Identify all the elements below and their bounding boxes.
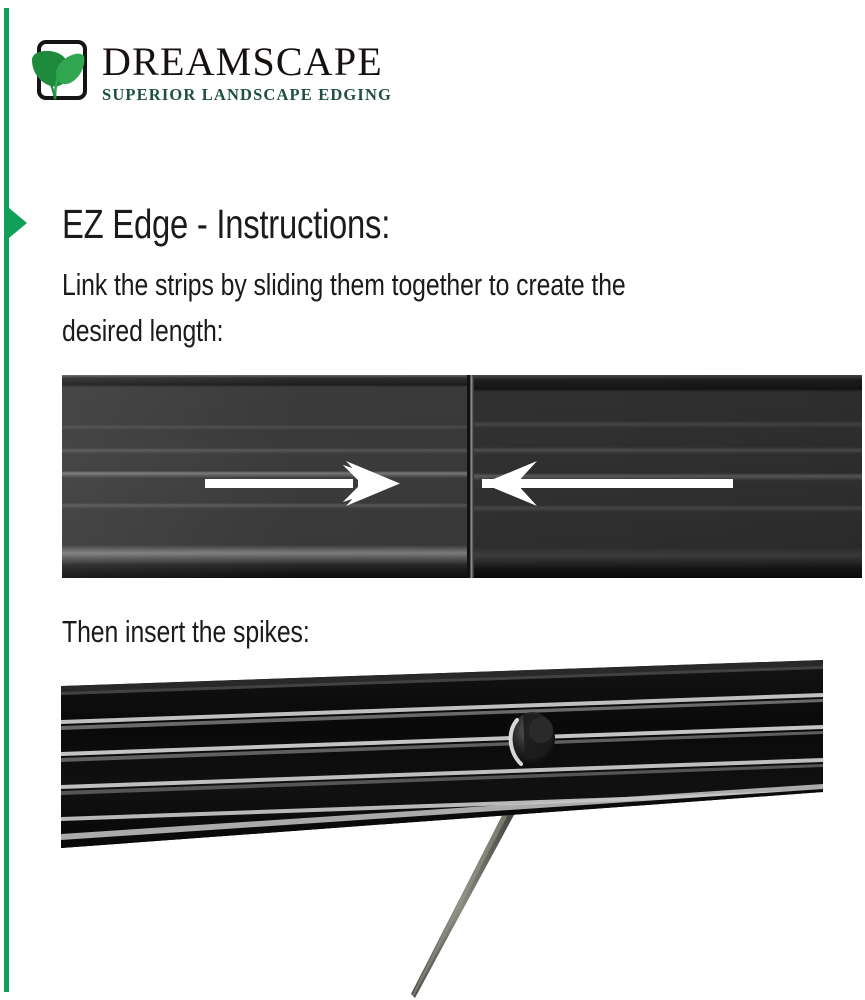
insert-spike-photo [55,652,845,1000]
instruction-text-line-1: Link the strips by sliding them together… [62,265,626,305]
edging-strip [61,660,823,852]
metal-spike [411,800,521,998]
page-title: EZ Edge - Instructions: [62,198,390,250]
triangle-right-icon [9,208,27,238]
arrow-right-icon [205,461,400,506]
leaf-in-square-icon [30,38,92,104]
left-accent-rail [4,8,9,992]
brand-logo: DREAMSCAPE SUPERIOR LANDSCAPE EDGING [30,38,430,110]
brand-name: DREAMSCAPE [102,40,392,84]
linking-strips-photo [62,375,862,578]
brand-tagline: SUPERIOR LANDSCAPE EDGING [102,85,392,105]
instruction-text-spikes: Then insert the spikes: [62,612,310,652]
instruction-text-line-2: desired length: [62,311,224,351]
arrow-left-icon [482,461,733,506]
instruction-sheet: DREAMSCAPE SUPERIOR LANDSCAPE EDGING EZ … [0,0,865,1000]
